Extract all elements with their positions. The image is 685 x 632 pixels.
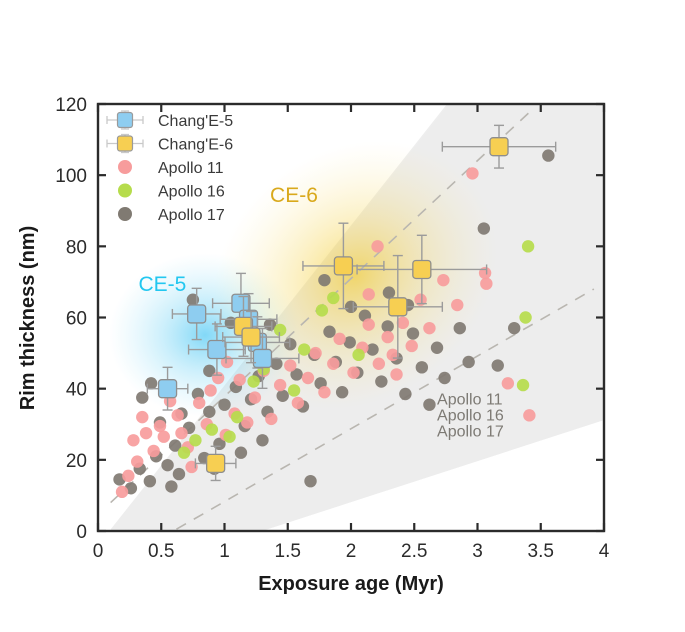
data-point bbox=[454, 322, 466, 334]
data-point bbox=[298, 343, 310, 355]
data-point bbox=[302, 372, 314, 384]
data-point bbox=[276, 390, 288, 402]
legend-marker-circle bbox=[118, 184, 132, 198]
data-point bbox=[347, 366, 359, 378]
x-tick-label: 0 bbox=[93, 541, 104, 562]
data-point bbox=[383, 286, 395, 298]
x-tick-label: 2.5 bbox=[401, 541, 427, 562]
x-axis-title: Exposure age (Myr) bbox=[258, 573, 444, 595]
data-point bbox=[207, 454, 225, 472]
y-tick-label: 60 bbox=[66, 309, 87, 330]
x-tick-label: 2 bbox=[346, 541, 357, 562]
x-tick-label: 3 bbox=[472, 541, 483, 562]
data-point bbox=[438, 372, 450, 384]
data-point bbox=[490, 138, 508, 156]
data-point bbox=[371, 240, 383, 252]
data-point bbox=[212, 372, 224, 384]
data-point bbox=[309, 347, 321, 359]
data-point bbox=[122, 470, 134, 482]
data-point bbox=[223, 431, 235, 443]
data-point bbox=[492, 359, 504, 371]
data-point bbox=[204, 384, 216, 396]
data-point bbox=[188, 305, 206, 323]
legend-marker-circle bbox=[118, 207, 132, 221]
data-point bbox=[381, 320, 393, 332]
data-point bbox=[247, 375, 259, 387]
data-point bbox=[423, 322, 435, 334]
data-point bbox=[288, 384, 300, 396]
data-point bbox=[218, 398, 230, 410]
data-point bbox=[208, 341, 226, 359]
data-point bbox=[136, 391, 148, 403]
annotation-label: CE-5 bbox=[138, 273, 186, 296]
x-tick-label: 3.5 bbox=[528, 541, 554, 562]
x-tick-label: 1.5 bbox=[275, 541, 301, 562]
data-point bbox=[159, 380, 177, 398]
data-point bbox=[203, 406, 215, 418]
data-point bbox=[416, 361, 428, 373]
data-point bbox=[136, 411, 148, 423]
data-point bbox=[508, 322, 520, 334]
y-tick-label: 120 bbox=[55, 95, 87, 116]
x-tick-label: 4 bbox=[599, 541, 610, 562]
data-point bbox=[399, 388, 411, 400]
data-point bbox=[502, 377, 514, 389]
data-point bbox=[522, 240, 534, 252]
legend-label: Chang'E-5 bbox=[158, 113, 233, 130]
data-point bbox=[323, 326, 335, 338]
data-point bbox=[423, 398, 435, 410]
x-tick-label: 0.5 bbox=[148, 541, 174, 562]
data-point bbox=[480, 277, 492, 289]
data-point bbox=[206, 423, 218, 435]
data-point bbox=[256, 434, 268, 446]
data-point bbox=[336, 386, 348, 398]
data-point bbox=[158, 431, 170, 443]
legend-item[interactable]: Chang'E-5 bbox=[107, 111, 233, 130]
data-point bbox=[387, 349, 399, 361]
data-point bbox=[363, 318, 375, 330]
data-point bbox=[413, 260, 431, 278]
data-point bbox=[327, 292, 339, 304]
annotation-label: Apollo 11 bbox=[437, 392, 503, 409]
data-point bbox=[274, 324, 286, 336]
data-point bbox=[274, 379, 286, 391]
data-point bbox=[327, 358, 339, 370]
scatter-plot: CE-5CE-6Apollo 11Apollo 16Apollo 17 00.5… bbox=[0, 0, 685, 632]
y-tick-label: 20 bbox=[66, 451, 87, 472]
data-point bbox=[131, 455, 143, 467]
data-point bbox=[390, 368, 402, 380]
data-point bbox=[375, 375, 387, 387]
data-point bbox=[154, 420, 166, 432]
data-point bbox=[178, 447, 190, 459]
data-point bbox=[542, 149, 554, 161]
data-point bbox=[171, 409, 183, 421]
y-tick-label: 100 bbox=[55, 166, 87, 187]
data-point bbox=[466, 167, 478, 179]
data-point bbox=[165, 480, 177, 492]
data-point bbox=[147, 445, 159, 457]
data-point bbox=[253, 349, 271, 367]
data-point bbox=[265, 413, 277, 425]
data-point bbox=[116, 486, 128, 498]
data-point bbox=[193, 397, 205, 409]
annotation-label: Apollo 16 bbox=[437, 408, 504, 425]
data-point bbox=[318, 386, 330, 398]
data-point bbox=[249, 391, 261, 403]
data-point bbox=[173, 468, 185, 480]
data-point bbox=[462, 356, 474, 368]
data-point bbox=[451, 299, 463, 311]
data-point bbox=[397, 317, 409, 329]
data-point bbox=[318, 274, 330, 286]
data-point bbox=[175, 427, 187, 439]
data-point bbox=[407, 327, 419, 339]
data-point bbox=[479, 267, 491, 279]
data-point bbox=[381, 331, 393, 343]
data-point bbox=[161, 459, 173, 471]
legend-item[interactable]: Chang'E-6 bbox=[107, 135, 233, 154]
data-point bbox=[284, 359, 296, 371]
data-point bbox=[334, 257, 352, 275]
data-point bbox=[437, 274, 449, 286]
legend-marker-circle bbox=[118, 160, 132, 174]
x-tick-label: 1 bbox=[219, 541, 230, 562]
legend-label: Apollo 16 bbox=[158, 184, 225, 201]
data-point bbox=[316, 304, 328, 316]
legend-marker-square bbox=[118, 136, 133, 151]
data-point bbox=[233, 374, 245, 386]
data-point bbox=[523, 409, 535, 421]
data-point bbox=[517, 379, 529, 391]
data-point bbox=[363, 288, 375, 300]
y-axis-title: Rim thickness (nm) bbox=[17, 226, 39, 410]
data-point bbox=[144, 475, 156, 487]
data-point bbox=[352, 349, 364, 361]
y-tick-label: 40 bbox=[66, 380, 87, 401]
data-point bbox=[189, 434, 201, 446]
data-point bbox=[406, 340, 418, 352]
legend-label: Apollo 11 bbox=[158, 160, 224, 177]
figure-container: CE-5CE-6Apollo 11Apollo 16Apollo 17 00.5… bbox=[0, 0, 685, 632]
data-point bbox=[235, 447, 247, 459]
data-point bbox=[140, 427, 152, 439]
data-point bbox=[373, 358, 385, 370]
y-tick-label: 0 bbox=[76, 522, 87, 543]
legend-label: Apollo 17 bbox=[158, 207, 225, 224]
data-point bbox=[431, 342, 443, 354]
data-point bbox=[389, 298, 407, 316]
legend-label: Chang'E-6 bbox=[158, 137, 233, 154]
data-point bbox=[519, 311, 531, 323]
y-tick-label: 80 bbox=[66, 237, 87, 258]
legend-marker-square bbox=[118, 113, 133, 128]
data-point bbox=[304, 475, 316, 487]
data-point bbox=[333, 333, 345, 345]
annotation-label: Apollo 17 bbox=[437, 424, 504, 441]
data-point bbox=[231, 411, 243, 423]
annotation-label: CE-6 bbox=[270, 184, 318, 207]
data-point bbox=[478, 222, 490, 234]
data-point bbox=[127, 434, 139, 446]
data-point bbox=[292, 397, 304, 409]
data-point bbox=[242, 328, 260, 346]
